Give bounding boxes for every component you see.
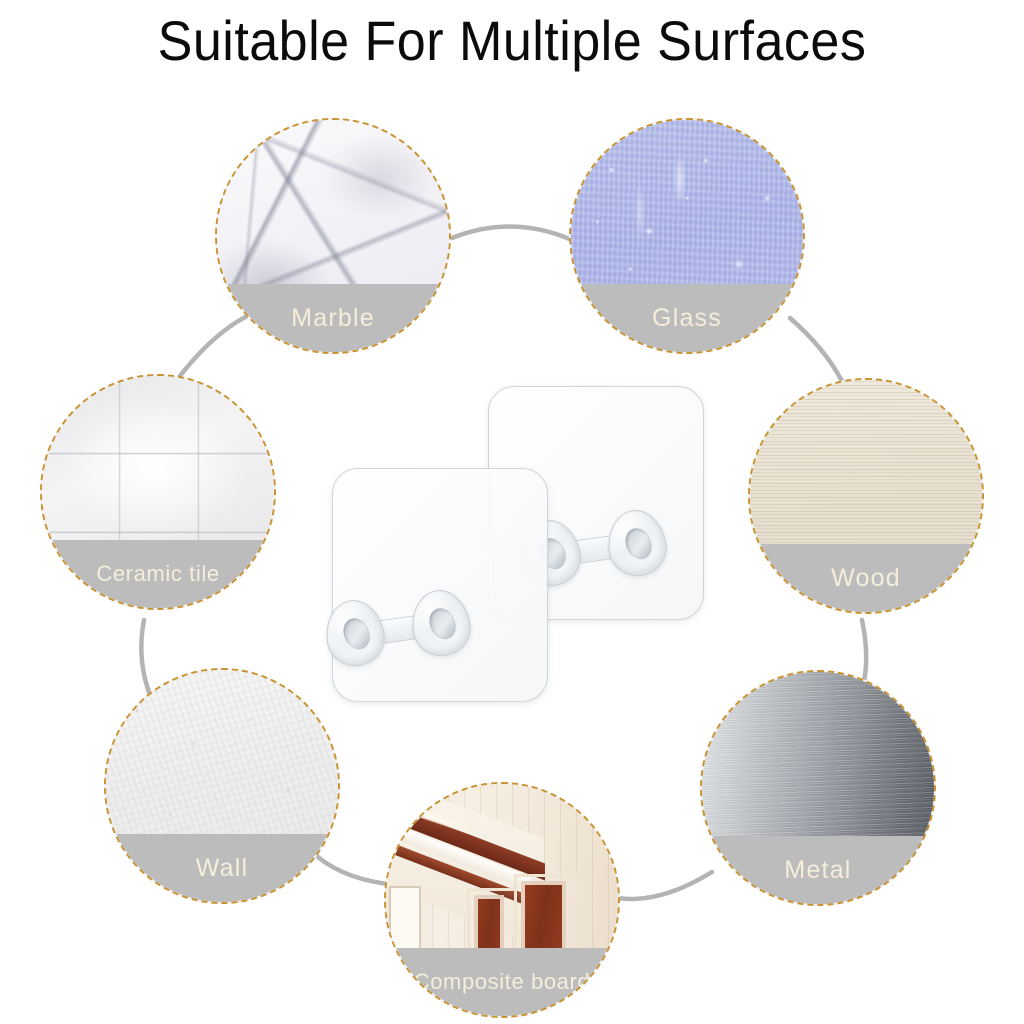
surface-label-band-ceramic-tile: Ceramic tile — [40, 540, 276, 610]
surface-label-band-glass: Glass — [569, 284, 805, 354]
hook-bore-front-left — [338, 614, 374, 653]
surface-label-band-wall: Wall — [104, 834, 340, 904]
surface-circle-ceramic-tile[interactable]: Ceramic tile — [40, 374, 276, 610]
surface-circle-composite-board[interactable]: Composite board — [384, 782, 620, 1018]
surface-circle-glass[interactable]: Glass — [569, 118, 805, 354]
surface-label-band-wood: Wood — [748, 544, 984, 614]
surface-circle-marble[interactable]: Marble — [215, 118, 451, 354]
hook-bore-front-right — [424, 604, 460, 643]
surface-label-wood: Wood — [831, 566, 901, 595]
page-title: Suitable For Multiple Surfaces — [36, 8, 988, 73]
infographic-canvas: Suitable For Multiple Surfaces Marble — [0, 0, 1024, 1024]
surface-label-band-composite-board: Composite board — [384, 948, 620, 1018]
surface-label-ceramic-tile: Ceramic tile — [96, 563, 219, 589]
surface-label-metal: Metal — [784, 858, 851, 887]
hook-plate-front — [332, 468, 548, 702]
surface-label-wall: Wall — [196, 856, 248, 885]
surface-label-band-metal: Metal — [700, 836, 936, 906]
surface-circle-wood[interactable]: Wood — [748, 378, 984, 614]
surface-label-marble: Marble — [291, 306, 375, 335]
surface-label-glass: Glass — [652, 306, 722, 335]
connector-marble-glass — [452, 226, 572, 240]
connector-metal-composite — [618, 872, 712, 899]
surface-circle-wall[interactable]: Wall — [104, 668, 340, 904]
product-adhesive-wall-hooks — [310, 368, 710, 718]
surface-label-composite-board: Composite board — [414, 971, 591, 997]
hook-bore-back-right — [620, 524, 656, 563]
surface-label-band-marble: Marble — [215, 284, 451, 354]
surface-circle-metal[interactable]: Metal — [700, 670, 936, 906]
